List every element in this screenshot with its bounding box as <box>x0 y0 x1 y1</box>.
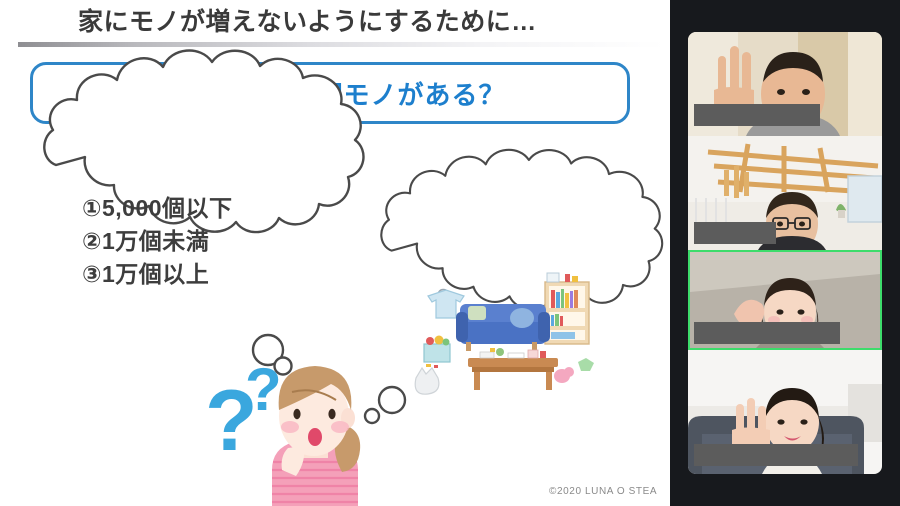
option-item-2: ②1万個未満 <box>82 225 342 258</box>
video-tile-1[interactable] <box>688 32 882 136</box>
video-tile-4[interactable] <box>688 350 882 474</box>
presentation-slide: 家にモノが増えないようにするために… 家の中には何個モノがある？ ? ? <box>0 0 670 506</box>
svg-text:?: ? <box>205 373 258 469</box>
participant-name-redaction-1 <box>694 104 820 126</box>
option-item-1: ①5,000個以下 <box>82 192 342 225</box>
title-divider <box>18 42 666 47</box>
question-mark-icons: ? ? <box>205 356 282 469</box>
cluttered-room-illustration <box>415 273 594 394</box>
video-participants-panel: HOUSE POLUS <box>670 0 900 506</box>
svg-text:?: ? <box>245 356 282 423</box>
participant-name-redaction-3 <box>694 322 840 344</box>
thinking-woman-character <box>272 366 360 506</box>
video-tile-3-active-speaker[interactable] <box>688 250 882 350</box>
participant-name-redaction-4 <box>694 444 858 466</box>
question-callout-box: 家の中には何個モノがある？ <box>30 62 630 124</box>
question-text: 家の中には何個モノがある？ <box>33 65 627 121</box>
page-title: 家にモノが増えないようにするために… <box>78 5 638 39</box>
option-item-3: ③1万個以上 <box>82 258 342 291</box>
options-list: ①5,000個以下 ②1万個未満 ③1万個以上 <box>82 192 342 291</box>
screen: 家にモノが増えないようにするために… 家の中には何個モノがある？ ? ? <box>0 0 900 506</box>
copyright-notice: ©2020 LUNA O STEA <box>549 486 657 497</box>
video-tile-2[interactable] <box>688 136 882 250</box>
participant-name-redaction-2 <box>694 222 776 244</box>
